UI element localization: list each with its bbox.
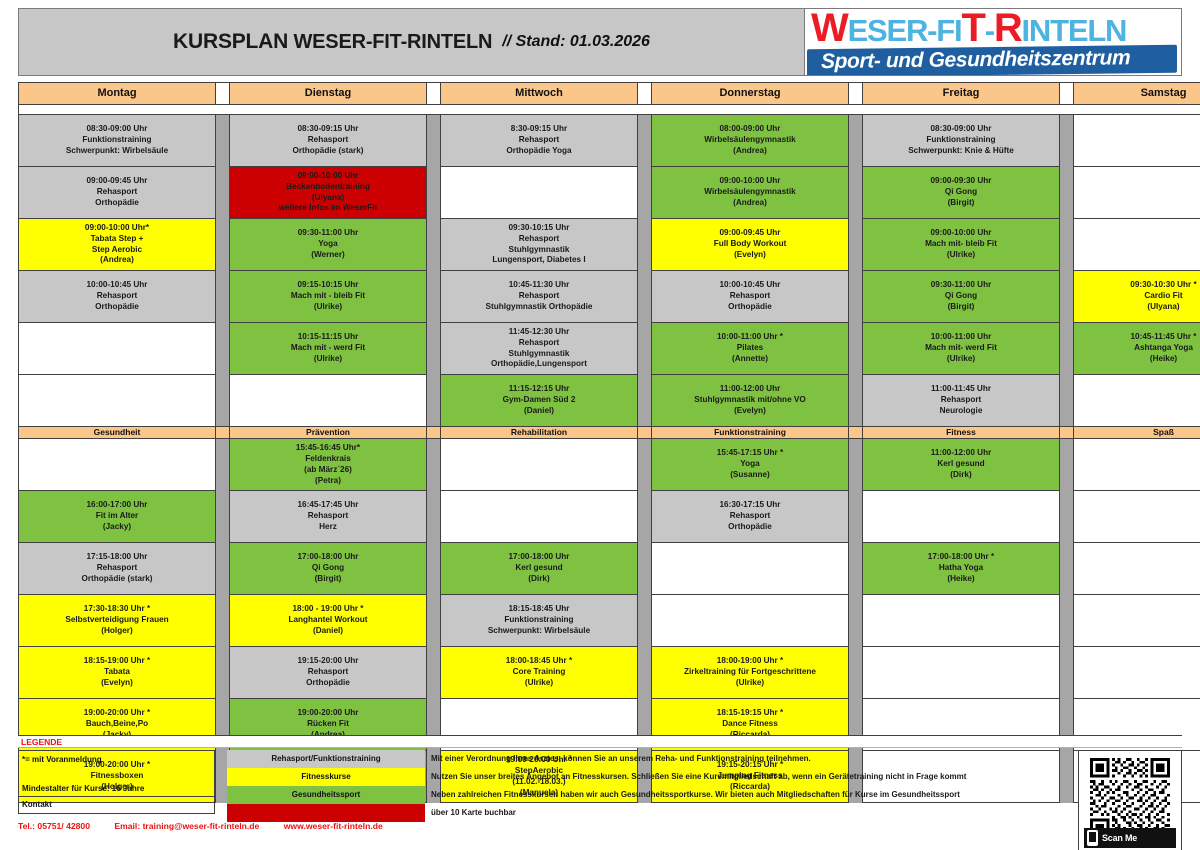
column-divider xyxy=(638,375,652,427)
legend-swatch-red: Zusatzkurse xyxy=(227,804,425,822)
day-header-freitag: Freitag xyxy=(863,83,1060,105)
legend-notes-box: *= mit Voranmeldung Mindestalter für Kur… xyxy=(18,750,215,797)
legend-section: LEGENDE *= mit Voranmeldung Mindestalter… xyxy=(18,735,1182,843)
course-time: 18:00-18:45 Uhr * xyxy=(441,656,637,667)
course-time: 09:30-10:15 Uhr xyxy=(441,223,637,234)
course-detail: (Ulrike) xyxy=(652,678,848,689)
empty-cell xyxy=(1074,647,1200,699)
course-cell[interactable]: 19:15-20:00 UhrRehasportOrthopädie xyxy=(230,647,427,699)
course-name: Funktionstraining xyxy=(863,135,1059,146)
legend-description: Mit einer Verordnung Ihres Arztes, könne… xyxy=(431,750,1081,768)
contact-website[interactable]: www.weser-fit-rinteln.de xyxy=(284,821,383,831)
category-divider xyxy=(216,427,230,439)
column-divider xyxy=(1060,271,1074,323)
column-divider xyxy=(216,543,230,595)
course-time: 09:00-10:00 Uhr xyxy=(230,171,426,182)
column-divider xyxy=(1060,323,1074,375)
course-name: Rehasport xyxy=(441,234,637,245)
day-header-mittwoch: Mittwoch xyxy=(441,83,638,105)
course-cell[interactable]: 10:00-10:45 UhrRehasportOrthopädie xyxy=(19,271,216,323)
course-name: Beckenbodentraining xyxy=(230,182,426,193)
course-detail: Schwerpunkt: Wirbelsäule xyxy=(441,626,637,637)
course-time: 08:30-09:00 Uhr xyxy=(863,124,1059,135)
course-detail: Orthopädie xyxy=(19,198,215,209)
course-name: Ashtanga Yoga xyxy=(1074,343,1200,354)
course-time: 19:00-20:00 Uhr * xyxy=(19,708,215,719)
column-divider xyxy=(1060,115,1074,167)
course-name: Core Training xyxy=(441,667,637,678)
header-gap-5 xyxy=(1060,83,1074,105)
column-divider xyxy=(427,543,441,595)
course-detail: (Ulrike) xyxy=(441,678,637,689)
course-cell[interactable]: 11:15-12:15 UhrGym-Damen Süd 2(Daniel) xyxy=(441,375,638,427)
schedule-row: 10:15-11:15 UhrMach mit - werd Fit(Ulrik… xyxy=(19,323,1200,375)
legend-swatch-yellow: Fitnesskurse xyxy=(227,768,425,786)
category-label-gesundheit: Gesundheit xyxy=(19,427,216,439)
column-divider xyxy=(216,323,230,375)
course-detail: (Andrea) xyxy=(19,255,215,266)
course-time: 15:45-17:15 Uhr * xyxy=(652,448,848,459)
header-spacer-row xyxy=(19,105,1200,115)
course-cell[interactable]: 18:15-19:00 Uhr *Tabata(Evelyn) xyxy=(19,647,216,699)
course-detail: (Ulyana) xyxy=(1074,302,1200,313)
column-divider xyxy=(1060,595,1074,647)
course-cell[interactable]: 11:00-11:45 UhrRehasportNeurologie xyxy=(863,375,1060,427)
empty-cell xyxy=(863,491,1060,543)
course-time: 10:00-11:00 Uhr * xyxy=(652,332,848,343)
course-name: Yoga xyxy=(652,459,848,470)
schedule-row: 09:00-10:00 Uhr*Tabata Step +Step Aerobi… xyxy=(19,219,1200,271)
course-name: Rehasport xyxy=(441,135,637,146)
schedule-row: 09:00-09:45 UhrRehasportOrthopädie09:00-… xyxy=(19,167,1200,219)
course-detail: (Birgit) xyxy=(863,302,1059,313)
course-cell[interactable]: 16:00-17:00 UhrFit im Alter(Jacky) xyxy=(19,491,216,543)
course-cell[interactable]: 09:00-09:45 UhrRehasportOrthopädie xyxy=(19,167,216,219)
course-detail: Stuhlgymnastik xyxy=(441,245,637,256)
course-time: 10:45-11:45 Uhr * xyxy=(1074,332,1200,343)
column-divider xyxy=(427,323,441,375)
schedule-row: 10:00-10:45 UhrRehasportOrthopädie09:15-… xyxy=(19,271,1200,323)
empty-cell xyxy=(1074,115,1200,167)
empty-cell xyxy=(652,595,849,647)
course-detail: (Evelyn) xyxy=(652,250,848,261)
course-cell[interactable]: 10:45-11:30 UhrRehasportStuhlgymnastik O… xyxy=(441,271,638,323)
course-time: 09:00-09:45 Uhr xyxy=(652,228,848,239)
schedule-row: 17:30-18:30 Uhr *Selbstverteidigung Frau… xyxy=(19,595,1200,647)
morning-block: 08:30-09:00 UhrFunktionstrainingSchwerpu… xyxy=(19,115,1200,427)
empty-cell xyxy=(863,647,1060,699)
column-divider xyxy=(427,595,441,647)
course-name: Qi Gong xyxy=(230,563,426,574)
course-time: 19:00-20:00 Uhr xyxy=(230,708,426,719)
course-name: Rehasport xyxy=(19,563,215,574)
column-divider xyxy=(638,595,652,647)
column-divider xyxy=(849,375,863,427)
schedule-row: 11:15-12:15 UhrGym-Damen Süd 2(Daniel)11… xyxy=(19,375,1200,427)
course-cell[interactable]: 11:45-12:30 UhrRehasportStuhlgymnastikOr… xyxy=(441,323,638,375)
course-cell[interactable]: 15:45-16:45 Uhr*Feldenkrais(ab März´26)(… xyxy=(230,439,427,491)
course-cell[interactable]: 18:15-18:45 UhrFunktionstrainingSchwerpu… xyxy=(441,595,638,647)
course-cell[interactable]: 09:00-10:00 UhrBeckenbodentraining(Ulyan… xyxy=(230,167,427,219)
logo-tagline: Sport- und Gesundheitszentrum xyxy=(807,45,1177,75)
course-detail: (Jacky) xyxy=(19,522,215,533)
schedule-table: Montag Dienstag Mittwoch Donnerstag Frei… xyxy=(18,82,1200,803)
course-cell[interactable]: 17:15-18:00 UhrRehasportOrthopädie (star… xyxy=(19,543,216,595)
course-name: Zirkeltraining für Fortgeschrittene xyxy=(652,667,848,678)
empty-cell xyxy=(441,439,638,491)
course-detail: (Heike) xyxy=(1074,354,1200,365)
course-detail: Orthopädie xyxy=(652,302,848,313)
category-divider xyxy=(427,427,441,439)
course-cell[interactable]: 18:00 - 19:00 Uhr *Langhantel Workout(Da… xyxy=(230,595,427,647)
course-name: Cardio Fit xyxy=(1074,291,1200,302)
column-divider xyxy=(427,647,441,699)
course-time: 09:30-10:30 Uhr * xyxy=(1074,280,1200,291)
course-detail: (Birgit) xyxy=(863,198,1059,209)
course-name: Qi Gong xyxy=(863,187,1059,198)
empty-cell xyxy=(230,375,427,427)
legend-swatch-green: Gesundheitssport xyxy=(227,786,425,804)
course-time: 17:30-18:30 Uhr * xyxy=(19,604,215,615)
course-detail: (Andrea) xyxy=(652,198,848,209)
legend-description: Nutzen Sie unser breites Angebot an Fitn… xyxy=(431,768,1081,786)
empty-cell xyxy=(19,323,216,375)
course-name: Mach mit- bleib Fit xyxy=(863,239,1059,250)
schedule-row: 16:00-17:00 UhrFit im Alter(Jacky)16:45-… xyxy=(19,491,1200,543)
legend-descriptions: Mit einer Verordnung Ihres Arztes, könne… xyxy=(431,750,1081,822)
column-divider xyxy=(427,219,441,271)
qr-scan-bar: Scan Me xyxy=(1084,828,1176,848)
legend-swatch-gray: Rehasport/Funktionstraining xyxy=(227,750,425,768)
course-cell[interactable]: 09:30-11:00 UhrYoga(Werner) xyxy=(230,219,427,271)
course-time: 17:15-18:00 Uhr xyxy=(19,552,215,563)
column-divider xyxy=(849,323,863,375)
column-divider xyxy=(638,115,652,167)
course-name: Mach mit - werd Fit xyxy=(230,343,426,354)
course-time: 11:45-12:30 Uhr xyxy=(441,327,637,338)
course-time: 11:00-12:00 Uhr xyxy=(652,384,848,395)
qr-code-box[interactable]: Scan Me xyxy=(1078,750,1182,850)
empty-cell xyxy=(19,375,216,427)
course-time: 10:00-11:00 Uhr xyxy=(863,332,1059,343)
day-header-montag: Montag xyxy=(19,83,216,105)
header-gap-3 xyxy=(638,83,652,105)
course-detail: Step Aerobic xyxy=(19,245,215,256)
empty-cell xyxy=(1074,595,1200,647)
company-logo: WESER-FIT-RINTELN Sport- und Gesundheits… xyxy=(805,9,1181,75)
course-cell[interactable]: 8:30-09:15 UhrRehasportOrthopädie Yoga xyxy=(441,115,638,167)
empty-cell xyxy=(652,543,849,595)
course-time: 16:00-17:00 Uhr xyxy=(19,500,215,511)
course-time: 18:00-19:00 Uhr * xyxy=(652,656,848,667)
column-divider xyxy=(427,167,441,219)
course-detail: (Evelyn) xyxy=(19,678,215,689)
course-time: 09:00-10:00 Uhr xyxy=(652,176,848,187)
course-name: Stuhlgymnastik mit/ohne VO xyxy=(652,395,848,406)
phone-icon xyxy=(1087,830,1098,846)
course-time: 09:00-09:30 Uhr xyxy=(863,176,1059,187)
empty-cell xyxy=(19,439,216,491)
course-cell[interactable]: 11:00-12:00 UhrKerl gesund(Dirk) xyxy=(863,439,1060,491)
empty-cell xyxy=(1074,439,1200,491)
course-time: 18:15-19:15 Uhr * xyxy=(652,708,848,719)
course-detail: Orthopädie (stark) xyxy=(19,574,215,585)
day-header-donnerstag: Donnerstag xyxy=(652,83,849,105)
category-label-fitness: Fitness xyxy=(863,427,1060,439)
column-divider xyxy=(1060,647,1074,699)
contact-line: Tel.: 05751/ 42800 Email: training@weser… xyxy=(18,821,718,831)
course-name: Rehasport xyxy=(19,291,215,302)
column-divider xyxy=(638,491,652,543)
course-time: 18:15-19:00 Uhr * xyxy=(19,656,215,667)
legend-note-preregistration: *= mit Voranmeldung xyxy=(22,755,102,764)
course-detail: (Evelyn) xyxy=(652,406,848,417)
course-time: 10:00-10:45 Uhr xyxy=(19,280,215,291)
course-cell[interactable]: 09:00-09:45 UhrFull Body Workout(Evelyn) xyxy=(652,219,849,271)
category-divider xyxy=(849,427,863,439)
course-detail: (Ulyana) xyxy=(230,193,426,204)
legend-description: Neben zahlreichen Fitnesskursen haben wi… xyxy=(431,786,1081,804)
column-divider xyxy=(849,219,863,271)
page-title-rest: WESER-FIT-RINTELN xyxy=(293,31,492,53)
course-detail: (Dirk) xyxy=(441,574,637,585)
empty-cell xyxy=(1074,167,1200,219)
category-row: GesundheitPräventionRehabilitationFunkti… xyxy=(19,427,1200,439)
column-divider xyxy=(1060,219,1074,271)
header-gap-2 xyxy=(427,83,441,105)
column-divider xyxy=(849,543,863,595)
empty-cell xyxy=(441,491,638,543)
day-header-dienstag: Dienstag xyxy=(230,83,427,105)
course-name: Hatha Yoga xyxy=(863,563,1059,574)
column-divider xyxy=(216,491,230,543)
column-divider xyxy=(849,271,863,323)
empty-cell xyxy=(1074,375,1200,427)
course-detail: Neurologie xyxy=(863,406,1059,417)
column-divider xyxy=(216,271,230,323)
course-name: Qi Gong xyxy=(863,291,1059,302)
course-cell[interactable]: 09:15-10:15 UhrMach mit - bleib Fit(Ulri… xyxy=(230,271,427,323)
course-cell[interactable]: 10:15-11:15 UhrMach mit - werd Fit(Ulrik… xyxy=(230,323,427,375)
page-title-cell: KURSPLAN WESER-FIT-RINTELN // Stand: 01.… xyxy=(19,9,805,75)
course-detail: Orthopädie xyxy=(19,302,215,313)
column-divider xyxy=(427,375,441,427)
course-time: 17:00-18:00 Uhr * xyxy=(863,552,1059,563)
header-gap-1 xyxy=(216,83,230,105)
column-divider xyxy=(849,491,863,543)
course-detail: Orthopädie,Lungensport xyxy=(441,359,637,370)
course-detail: Schwerpunkt: Wirbelsäule xyxy=(19,146,215,157)
course-time: 16:45-17:45 Uhr xyxy=(230,500,426,511)
category-label-rehabilitation: Rehabilitation xyxy=(441,427,638,439)
course-detail: (Ulrike) xyxy=(863,250,1059,261)
course-detail: weitere Infos im WeserFit xyxy=(230,203,426,214)
course-cell[interactable]: 08:30-09:15 UhrRehasportOrthopädie (star… xyxy=(230,115,427,167)
course-cell[interactable]: 17:00-18:00 UhrQi Gong(Birgit) xyxy=(230,543,427,595)
course-cell[interactable]: 09:30-10:30 Uhr *Cardio Fit(Ulyana) xyxy=(1074,271,1200,323)
course-cell[interactable]: 17:00-18:00 UhrKerl gesund(Dirk) xyxy=(441,543,638,595)
column-divider xyxy=(849,595,863,647)
column-divider xyxy=(638,271,652,323)
course-detail: Lungensport, Diabetes I xyxy=(441,255,637,266)
column-divider xyxy=(638,219,652,271)
course-cell[interactable]: 10:00-10:45 UhrRehasportOrthopädie xyxy=(652,271,849,323)
column-divider xyxy=(638,543,652,595)
course-cell[interactable]: 16:30-17:15 UhrRehasportOrthopädie xyxy=(652,491,849,543)
header-spacer xyxy=(19,105,1200,115)
column-divider xyxy=(1060,375,1074,427)
course-cell[interactable]: 15:45-17:15 Uhr *Yoga(Susanne) xyxy=(652,439,849,491)
course-time: 10:15-11:15 Uhr xyxy=(230,332,426,343)
course-cell[interactable]: 08:00-09:00 UhrWirbelsäulengymnastik(And… xyxy=(652,115,849,167)
column-divider xyxy=(427,271,441,323)
course-detail: (Birgit) xyxy=(230,574,426,585)
course-time: 09:15-10:15 Uhr xyxy=(230,280,426,291)
category-label-funktionstraining: Funktionstraining xyxy=(652,427,849,439)
course-detail: Schwerpunkt: Knie & Hüfte xyxy=(863,146,1059,157)
course-detail: Orthopädie (stark) xyxy=(230,146,426,157)
course-cell[interactable]: 18:00-18:45 Uhr *Core Training(Ulrike) xyxy=(441,647,638,699)
course-cell[interactable]: 08:30-09:00 UhrFunktionstrainingSchwerpu… xyxy=(863,115,1060,167)
column-divider xyxy=(638,323,652,375)
course-time: 17:00-18:00 Uhr xyxy=(230,552,426,563)
legend-title: LEGENDE xyxy=(18,735,1182,748)
course-cell[interactable]: 10:45-11:45 Uhr *Ashtanga Yoga(Heike) xyxy=(1074,323,1200,375)
course-detail: (Daniel) xyxy=(441,406,637,417)
course-time: 08:30-09:00 Uhr xyxy=(19,124,215,135)
course-cell[interactable]: 11:00-12:00 UhrStuhlgymnastik mit/ohne V… xyxy=(652,375,849,427)
course-name: Full Body Workout xyxy=(652,239,848,250)
qr-code-image xyxy=(1090,758,1170,838)
legend-note-minimum-age: Mindestalter für Kurse: 16 Jahre xyxy=(22,784,144,793)
course-time: 15:45-16:45 Uhr* xyxy=(230,443,426,454)
column-divider xyxy=(216,647,230,699)
column-divider xyxy=(849,115,863,167)
course-name: Pilates xyxy=(652,343,848,354)
course-time: 18:00 - 19:00 Uhr * xyxy=(230,604,426,615)
column-divider xyxy=(849,439,863,491)
course-detail: (Werner) xyxy=(230,250,426,261)
empty-cell xyxy=(863,595,1060,647)
course-name: Fit im Alter xyxy=(19,511,215,522)
course-name: Dance Fitness xyxy=(652,719,848,730)
contact-email[interactable]: Email: training@weser-fit-rinteln.de xyxy=(114,821,259,831)
column-divider xyxy=(1060,543,1074,595)
qr-scan-label: Scan Me xyxy=(1102,833,1137,843)
course-name: Mach mit - bleib Fit xyxy=(230,291,426,302)
page-header: KURSPLAN WESER-FIT-RINTELN // Stand: 01.… xyxy=(18,8,1182,76)
course-name: Feldenkrais xyxy=(230,454,426,465)
header-gap-4 xyxy=(849,83,863,105)
contact-telephone[interactable]: Tel.: 05751/ 42800 xyxy=(18,821,90,831)
legend-contact-label: Kontakt xyxy=(18,797,215,814)
category-label-prvention: Prävention xyxy=(230,427,427,439)
schedule-row: 18:15-19:00 Uhr *Tabata(Evelyn)19:15-20:… xyxy=(19,647,1200,699)
page-title: KURSPLAN WESER-FIT-RINTELN xyxy=(173,30,492,54)
stand-date: // Stand: 01.03.2026 xyxy=(502,33,650,51)
course-name: Rehasport xyxy=(441,338,637,349)
course-name: Kerl gesund xyxy=(863,459,1059,470)
column-divider xyxy=(427,491,441,543)
course-time: 08:30-09:15 Uhr xyxy=(230,124,426,135)
course-cell[interactable]: 08:30-09:00 UhrFunktionstrainingSchwerpu… xyxy=(19,115,216,167)
course-name: Wirbelsäulengymnastik xyxy=(652,187,848,198)
column-divider xyxy=(427,115,441,167)
schedule-row: 08:30-09:00 UhrFunktionstrainingSchwerpu… xyxy=(19,115,1200,167)
course-detail: (Annette) xyxy=(652,354,848,365)
page-title-bold: KURSPLAN xyxy=(173,30,288,53)
column-divider xyxy=(216,167,230,219)
course-time: 08:00-09:00 Uhr xyxy=(652,124,848,135)
course-name: Rehasport xyxy=(230,667,426,678)
column-divider xyxy=(1060,439,1074,491)
course-time: 16:30-17:15 Uhr xyxy=(652,500,848,511)
category-divider xyxy=(1060,427,1074,439)
day-header-samstag: Samstag xyxy=(1074,83,1200,105)
column-divider xyxy=(849,647,863,699)
course-detail: (Dirk) xyxy=(863,470,1059,481)
course-name: Langhantel Workout xyxy=(230,615,426,626)
course-cell[interactable]: 10:00-11:00 Uhr *Pilates(Annette) xyxy=(652,323,849,375)
legend-left-column: *= mit Voranmeldung Mindestalter für Kur… xyxy=(18,750,215,831)
course-detail: (Susanne) xyxy=(652,470,848,481)
course-name: Rehasport xyxy=(230,511,426,522)
course-time: 09:00-10:00 Uhr* xyxy=(19,223,215,234)
course-cell[interactable]: 17:30-18:30 Uhr *Selbstverteidigung Frau… xyxy=(19,595,216,647)
course-name: Gym-Damen Süd 2 xyxy=(441,395,637,406)
course-detail: (Petra) xyxy=(230,476,426,487)
course-cell[interactable]: 10:00-11:00 UhrMach mit- werd Fit(Ulrike… xyxy=(863,323,1060,375)
course-detail: (Ulrike) xyxy=(230,302,426,313)
empty-cell xyxy=(1074,543,1200,595)
course-cell[interactable]: 17:00-18:00 Uhr *Hatha Yoga(Heike) xyxy=(863,543,1060,595)
course-cell[interactable]: 16:45-17:45 UhrRehasportHerz xyxy=(230,491,427,543)
course-cell[interactable]: 18:00-19:00 Uhr *Zirkeltraining für Fort… xyxy=(652,647,849,699)
column-divider xyxy=(1060,491,1074,543)
course-name: Tabata xyxy=(19,667,215,678)
course-name: Kerl gesund xyxy=(441,563,637,574)
course-name: Rehasport xyxy=(230,135,426,146)
course-name: Rehasport xyxy=(652,291,848,302)
course-name: Mach mit- werd Fit xyxy=(863,343,1059,354)
column-divider xyxy=(638,167,652,219)
course-time: 09:30-11:00 Uhr xyxy=(230,228,426,239)
column-divider xyxy=(216,375,230,427)
course-name: Selbstverteidigung Frauen xyxy=(19,615,215,626)
empty-cell xyxy=(1074,219,1200,271)
course-cell[interactable]: 09:30-10:15 UhrRehasportStuhlgymnastikLu… xyxy=(441,219,638,271)
kursplan-page: KURSPLAN WESER-FIT-RINTELN // Stand: 01.… xyxy=(0,0,1200,850)
course-name: Yoga xyxy=(230,239,426,250)
column-divider xyxy=(849,167,863,219)
course-cell[interactable]: 09:30-11:00 UhrQi Gong(Birgit) xyxy=(863,271,1060,323)
column-divider xyxy=(216,115,230,167)
course-cell[interactable]: 09:00-10:00 UhrWirbelsäulengymnastik(And… xyxy=(652,167,849,219)
course-detail: (Ulrike) xyxy=(230,354,426,365)
empty-cell xyxy=(441,167,638,219)
course-detail: Herz xyxy=(230,522,426,533)
course-time: 09:30-11:00 Uhr xyxy=(863,280,1059,291)
category-label-spa: Spaß xyxy=(1074,427,1200,439)
course-cell[interactable]: 09:00-10:00 UhrMach mit- bleib Fit(Ulrik… xyxy=(863,219,1060,271)
course-name: Funktionstraining xyxy=(441,615,637,626)
course-name: Rehasport xyxy=(441,291,637,302)
course-cell[interactable]: 09:00-09:30 UhrQi Gong(Birgit) xyxy=(863,167,1060,219)
course-cell[interactable]: 09:00-10:00 Uhr*Tabata Step +Step Aerobi… xyxy=(19,219,216,271)
course-name: Rehasport xyxy=(652,511,848,522)
category-divider xyxy=(638,427,652,439)
schedule-row: 15:45-16:45 Uhr*Feldenkrais(ab März´26)(… xyxy=(19,439,1200,491)
